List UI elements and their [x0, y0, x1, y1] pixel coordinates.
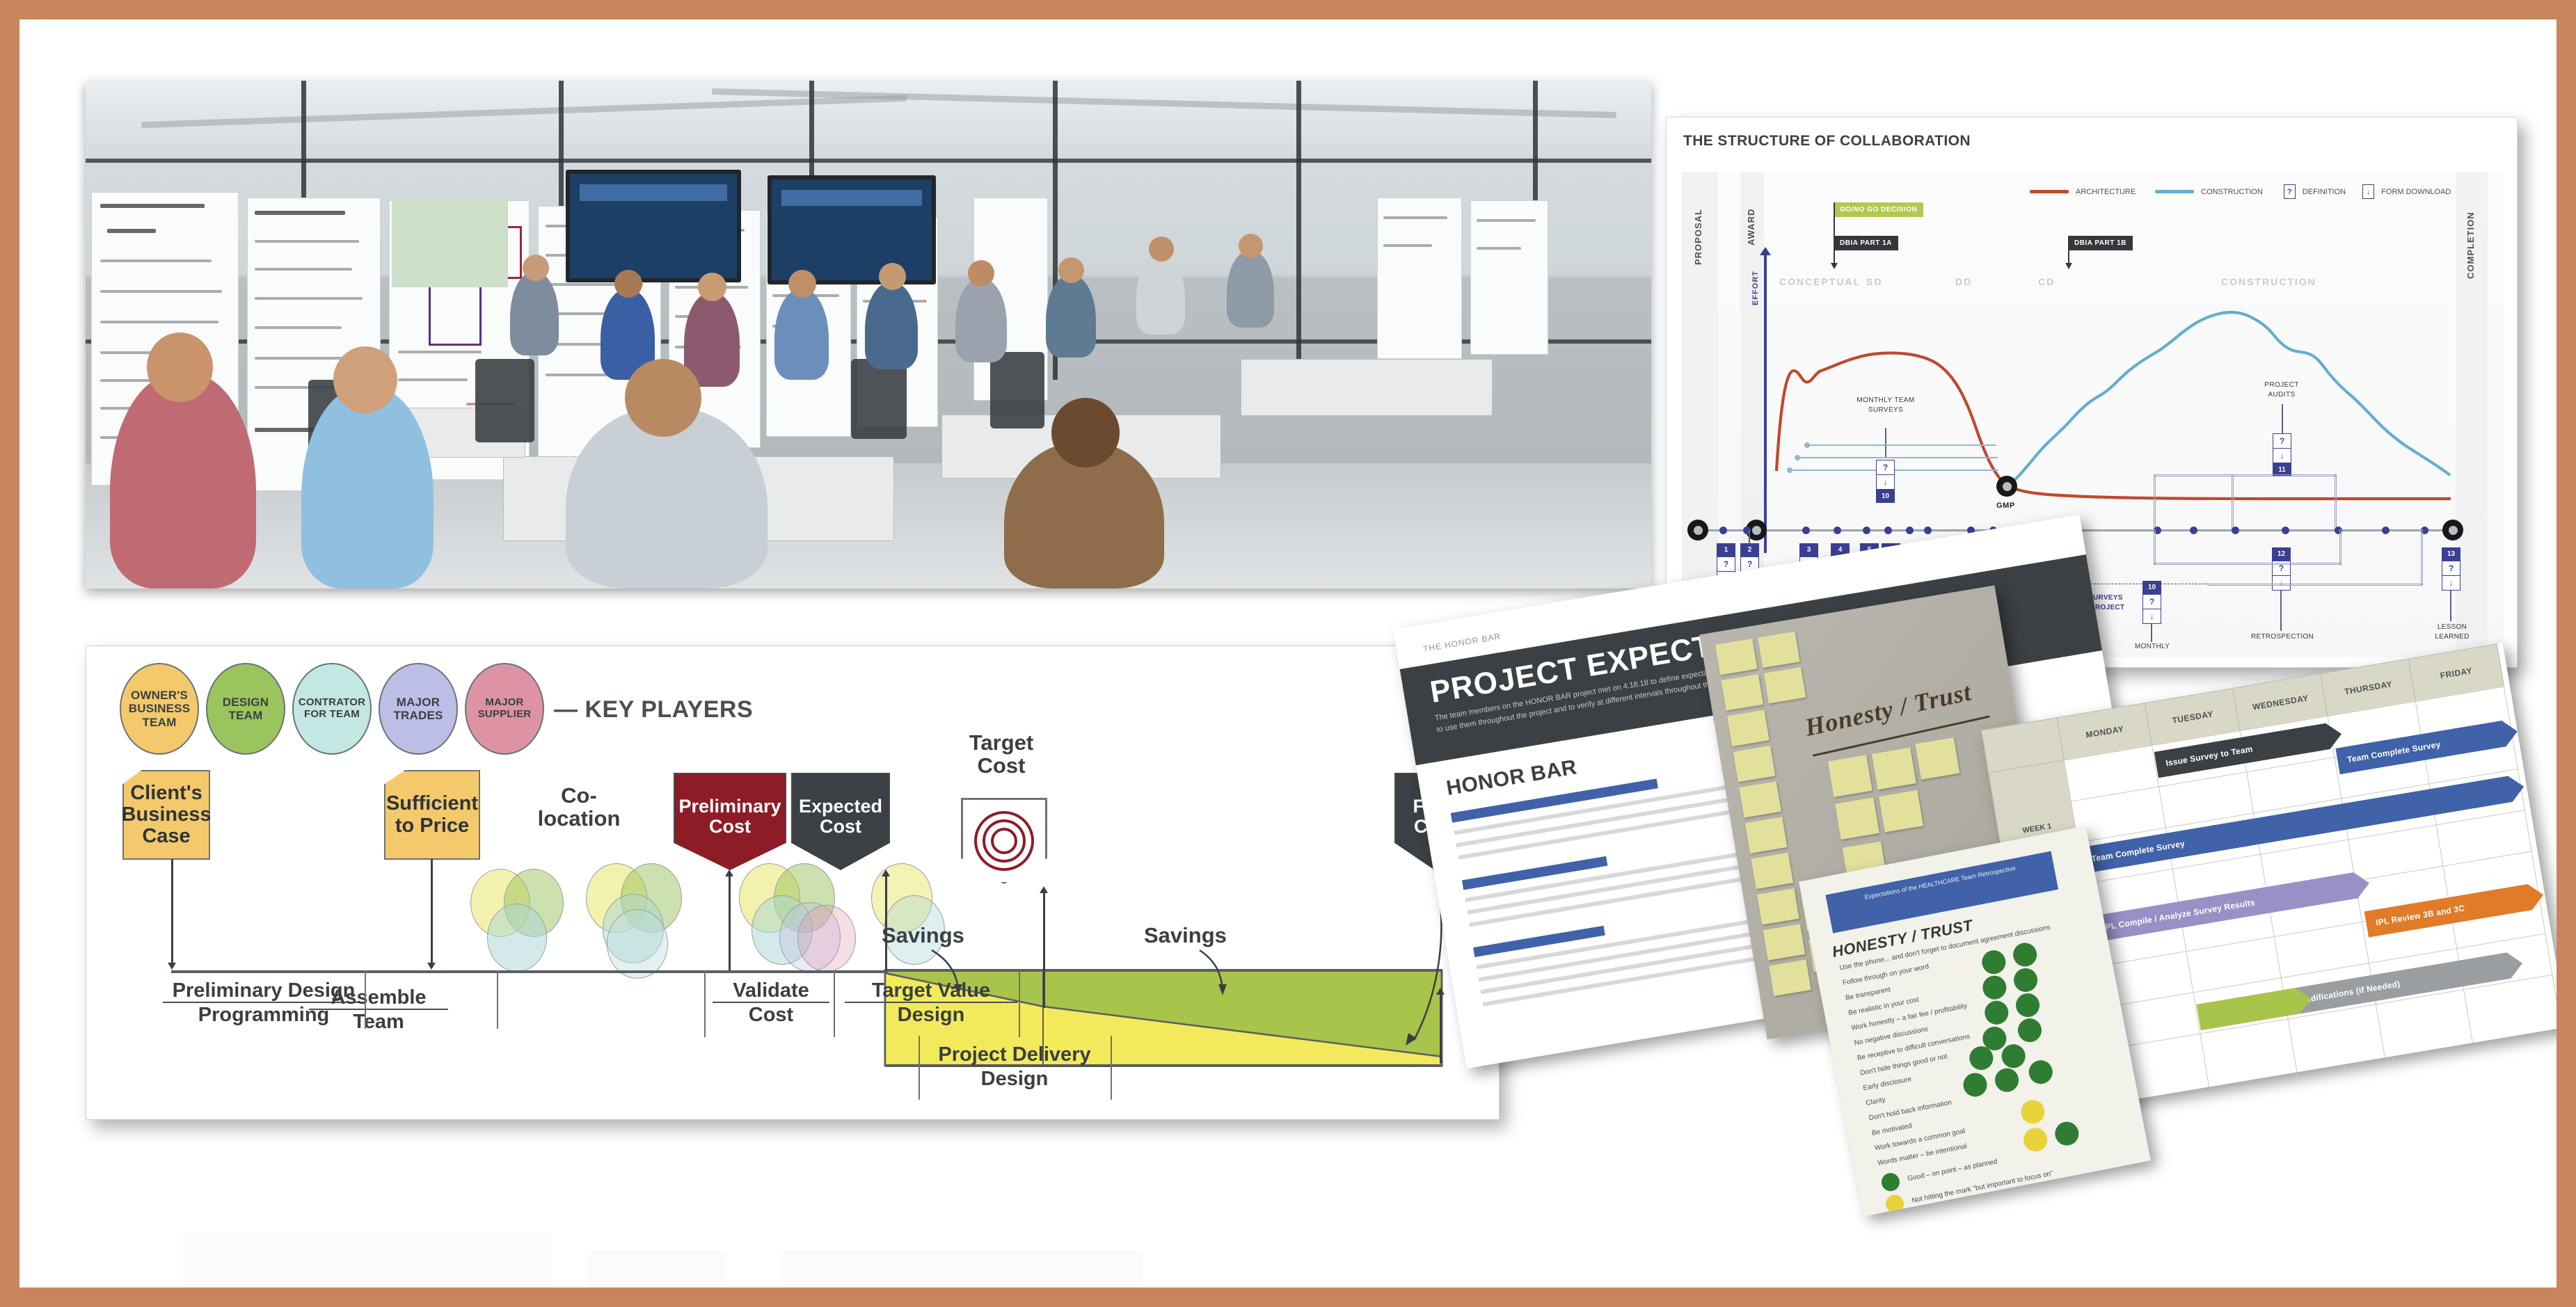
legend-text-green: Good – on point – as planned — [1907, 1158, 1998, 1183]
venn-cluster-5b — [871, 863, 955, 978]
photo-person-head — [147, 332, 213, 402]
photo-person-head — [698, 273, 726, 301]
effort-curves — [1682, 172, 2503, 561]
honesty-item: Early disclosure — [1862, 1075, 1911, 1092]
milestone-expected-cost: ExpectedCost — [791, 773, 890, 870]
vote-dot-green — [1982, 999, 2010, 1027]
phase-label-assemble-team: Assemble Team — [309, 987, 448, 1032]
definition-icon: ? — [2442, 561, 2460, 576]
vote-dot-green — [1962, 1071, 1989, 1099]
key-player-contractor-for-team: CONTRATORFOR TEAM — [292, 663, 372, 755]
vote-dot-green — [2053, 1120, 2081, 1148]
download-icon: ↓ — [2273, 449, 2291, 463]
vote-dot-green — [2027, 1058, 2055, 1086]
photo-chair — [990, 352, 1044, 428]
annotation-stem — [1885, 428, 1886, 458]
vote-dot-green — [2012, 966, 2040, 994]
timeline-dot — [2232, 527, 2239, 534]
key-player-major-trades: MAJORTRADES — [379, 663, 458, 755]
photo-person-head — [1239, 234, 1263, 258]
vote-dot-yellow — [2021, 1126, 2049, 1154]
timeline-bracket — [2154, 529, 2156, 564]
photo-person-head — [968, 260, 994, 287]
photo-person — [955, 279, 1007, 362]
badge-number: 10 — [1876, 490, 1895, 503]
timeline-label-monthly: MONTHLY — [2134, 642, 2170, 652]
survey-line — [1797, 457, 1998, 458]
milestone-sufficient-to-price: Sufficientto Price — [384, 770, 480, 860]
vote-dot-green — [1993, 1066, 2021, 1094]
photo-table — [1241, 359, 1493, 416]
definition-icon: ? — [1876, 460, 1895, 475]
photo-person-head — [788, 270, 816, 298]
photo-person-head — [1051, 398, 1120, 467]
timeline-label-lesson-learned: LESSON LEARNED — [2432, 623, 2472, 641]
venn-cluster-5 — [739, 863, 864, 978]
photo-person — [1227, 251, 1274, 328]
ghost-panel — [587, 1251, 726, 1288]
sticky-note — [1828, 755, 1873, 797]
key-players-label: — KEY PLAYERS — [554, 696, 753, 723]
slide-canvas: THE STRUCTURE OF COLLABORATION PROPOSAL … — [19, 19, 2557, 1288]
key-player-major-supplier: MAJORSUPPLIER — [465, 663, 544, 755]
sticky-note — [1733, 746, 1776, 782]
sticky-note — [1769, 960, 1811, 996]
vote-dot-green — [1980, 974, 2008, 1002]
phase-divider — [704, 970, 706, 1037]
photo-person-head — [523, 255, 549, 281]
photo-whiteboard — [1377, 198, 1462, 359]
download-icon: ↓ — [2142, 609, 2161, 624]
timeline-dot — [2382, 527, 2390, 534]
timeline-dot — [1802, 527, 1810, 534]
photo-mullion — [1296, 81, 1301, 359]
badge-monthly-surveys: ? ↓ 10 — [1876, 460, 1895, 503]
arrow-target-cost — [1043, 892, 1045, 1008]
diagram-baseline — [171, 970, 888, 973]
arrow-final-cost — [1440, 994, 1442, 1064]
honesty-item: Be transparent — [1845, 986, 1891, 1002]
badge-number: 2 — [1740, 543, 1759, 556]
photo-wall-monitor — [566, 170, 741, 282]
milestone-co-location: Co-location — [516, 784, 642, 831]
audit-bracket — [2232, 474, 2234, 531]
definition-icon: ? — [1717, 556, 1735, 572]
savings-label-1: Savings — [882, 923, 964, 948]
timeline-end-node — [2442, 520, 2463, 540]
timeline-dot — [1719, 527, 1727, 534]
sticky-note — [1727, 710, 1770, 746]
timeline-dot — [1924, 527, 1932, 534]
audit-bracket — [2154, 474, 2156, 531]
timeline-stem — [2450, 591, 2451, 621]
arrow-preliminary-cost — [729, 876, 731, 970]
survey-line — [1807, 444, 1996, 446]
expectations-section: HONOR BAR — [1445, 755, 1579, 801]
photo-person-foreground — [301, 387, 434, 588]
project-audits-annotation: PROJECT AUDITS — [2254, 380, 2309, 399]
ghost-panel — [183, 1233, 552, 1288]
vote-dot-green — [1980, 948, 2007, 976]
photo-person-head — [1058, 257, 1084, 283]
timeline-bracket — [2421, 529, 2423, 585]
milestone-clients-business-case: Client'sBusinessCase — [122, 770, 210, 860]
honesty-item: Clarity — [1866, 1096, 1886, 1107]
definition-icon: ? — [2273, 433, 2291, 449]
photo-chair — [851, 359, 907, 439]
phase-divider — [1019, 970, 1020, 1037]
photo-person — [774, 289, 829, 380]
milestone-target-cost-label: TargetCost — [939, 731, 1064, 778]
badge-number: 10 — [2142, 581, 2161, 594]
photo-person-foreground — [110, 373, 256, 588]
arrow-clients-business-case — [171, 859, 173, 963]
milestone-target-cost — [961, 798, 1047, 884]
venn-cluster-3 — [470, 869, 568, 973]
target-value-design-card: OWNER'SBUSINESSTEAM DESIGNTEAM CONTRATOR… — [86, 646, 1500, 1120]
photo-mullion-h — [86, 159, 1651, 163]
sticky-note — [1835, 797, 1879, 840]
sticky-note — [1758, 632, 1800, 668]
timeline-bracket — [2154, 563, 2342, 565]
photo-person — [1136, 255, 1185, 335]
gmp-node — [1996, 476, 2017, 497]
savings-label-2: Savings — [1144, 923, 1227, 948]
badge-number: 13 — [2442, 547, 2460, 561]
phase-divider — [497, 970, 498, 1029]
badge-project-audits: ? ↓ 11 — [2273, 433, 2291, 476]
sticky-note — [1745, 817, 1788, 853]
timeline-dot — [2282, 527, 2289, 534]
expectations-eyebrow: THE HONOR BAR — [1422, 632, 1502, 654]
legend-dot-green — [1880, 1171, 1901, 1192]
badge-10: 10 ? ↓ — [2142, 581, 2161, 624]
badge-number: 3 — [1799, 543, 1818, 556]
sticky-note — [1915, 737, 1959, 780]
photo-person — [510, 272, 559, 355]
photo-person-head — [1149, 236, 1174, 262]
sticky-note — [1722, 674, 1764, 710]
sticky-note — [1757, 888, 1799, 924]
timeline-bracket — [2208, 584, 2422, 586]
legend-dot-yellow — [1884, 1194, 1905, 1214]
arrow-sufficient-to-price — [431, 859, 433, 963]
sticky-note — [1872, 748, 1916, 790]
photo-person — [1046, 275, 1096, 358]
timeline-dot — [1884, 527, 1892, 534]
venn-cluster-4 — [586, 863, 690, 978]
sticky-note — [1751, 853, 1793, 889]
photo-person-head — [879, 263, 906, 290]
download-icon: ↓ — [1876, 475, 1895, 490]
expectations-subsection-bar — [1473, 926, 1605, 957]
phase-divider — [834, 970, 835, 1037]
gmp-label: GMP — [1996, 502, 2015, 510]
handwritten-honesty-trust: Honesty / Trust — [1802, 677, 1974, 742]
photo-person-head — [614, 270, 642, 298]
phase-divider — [919, 1036, 920, 1100]
vote-dot-green — [2000, 1042, 2028, 1070]
timeline-stem — [2280, 591, 2282, 631]
monthly-team-surveys-annotation: MONTHLY TEAM SURVEYS — [1856, 396, 1916, 415]
expectations-subsection-bar — [1462, 856, 1607, 890]
photo-person-head — [625, 359, 701, 437]
timeline-dot — [1834, 527, 1841, 534]
bullseye-ring — [991, 828, 1017, 854]
timeline-stem — [2151, 624, 2152, 642]
vote-dot-green — [2011, 941, 2039, 969]
definition-icon: ? — [2142, 594, 2161, 609]
sticky-note — [1879, 790, 1923, 833]
milestone-preliminary-cost: PreliminaryCost — [674, 773, 786, 870]
audit-bracket — [2154, 474, 2336, 476]
photo-person-head — [333, 346, 397, 413]
photo-easel — [392, 199, 508, 287]
badge-number: 1 — [1717, 543, 1735, 556]
timeline-start-node — [1687, 520, 1708, 540]
timeline-dot — [2190, 527, 2197, 534]
sticky-note — [1764, 667, 1806, 703]
photo-whiteboard — [1470, 200, 1548, 355]
timeline-dot — [1906, 527, 1914, 534]
sticky-note — [1715, 639, 1758, 675]
badge-13: 13 ? ↓ — [2442, 547, 2460, 591]
key-player-owners-business-team: OWNER'SBUSINESSTEAM — [120, 663, 199, 755]
download-icon: ↓ — [2442, 576, 2460, 591]
honesty-item: Be motivated — [1871, 1122, 1912, 1137]
photo-person — [865, 282, 918, 369]
phase-label-target-value-design: Target Value Design — [845, 980, 1017, 1025]
vote-dot-green — [2016, 1016, 2044, 1044]
annotation-stem — [2282, 404, 2283, 433]
sticky-note — [1739, 781, 1781, 817]
big-room-photo — [86, 81, 1651, 588]
timeline-label-retrospection: RETROSPECTION — [2251, 632, 2311, 642]
timeline-bracket — [2339, 529, 2342, 564]
phase-label-project-delivery-design: Project Delivery Design — [919, 1044, 1111, 1089]
sticky-note — [1763, 924, 1806, 960]
photo-wall-monitor — [768, 175, 936, 284]
timeline-dot — [1863, 527, 1870, 534]
photo-chair — [475, 359, 534, 442]
phase-label-validate-cost: Validate Cost — [713, 980, 829, 1025]
phase-divider — [365, 970, 366, 1029]
arrow-expected-cost — [885, 876, 887, 970]
phase-divider — [1111, 1036, 1112, 1100]
vote-dot-yellow — [2019, 1098, 2046, 1126]
collaboration-title: THE STRUCTURE OF COLLABORATION — [1683, 133, 1971, 150]
key-player-design-team: DESIGNTEAM — [206, 663, 285, 755]
badge-number: 12 — [2272, 547, 2291, 561]
audit-bracket — [2335, 474, 2337, 531]
ghost-panel — [781, 1251, 1143, 1288]
vote-dot-green — [2014, 991, 2042, 1019]
